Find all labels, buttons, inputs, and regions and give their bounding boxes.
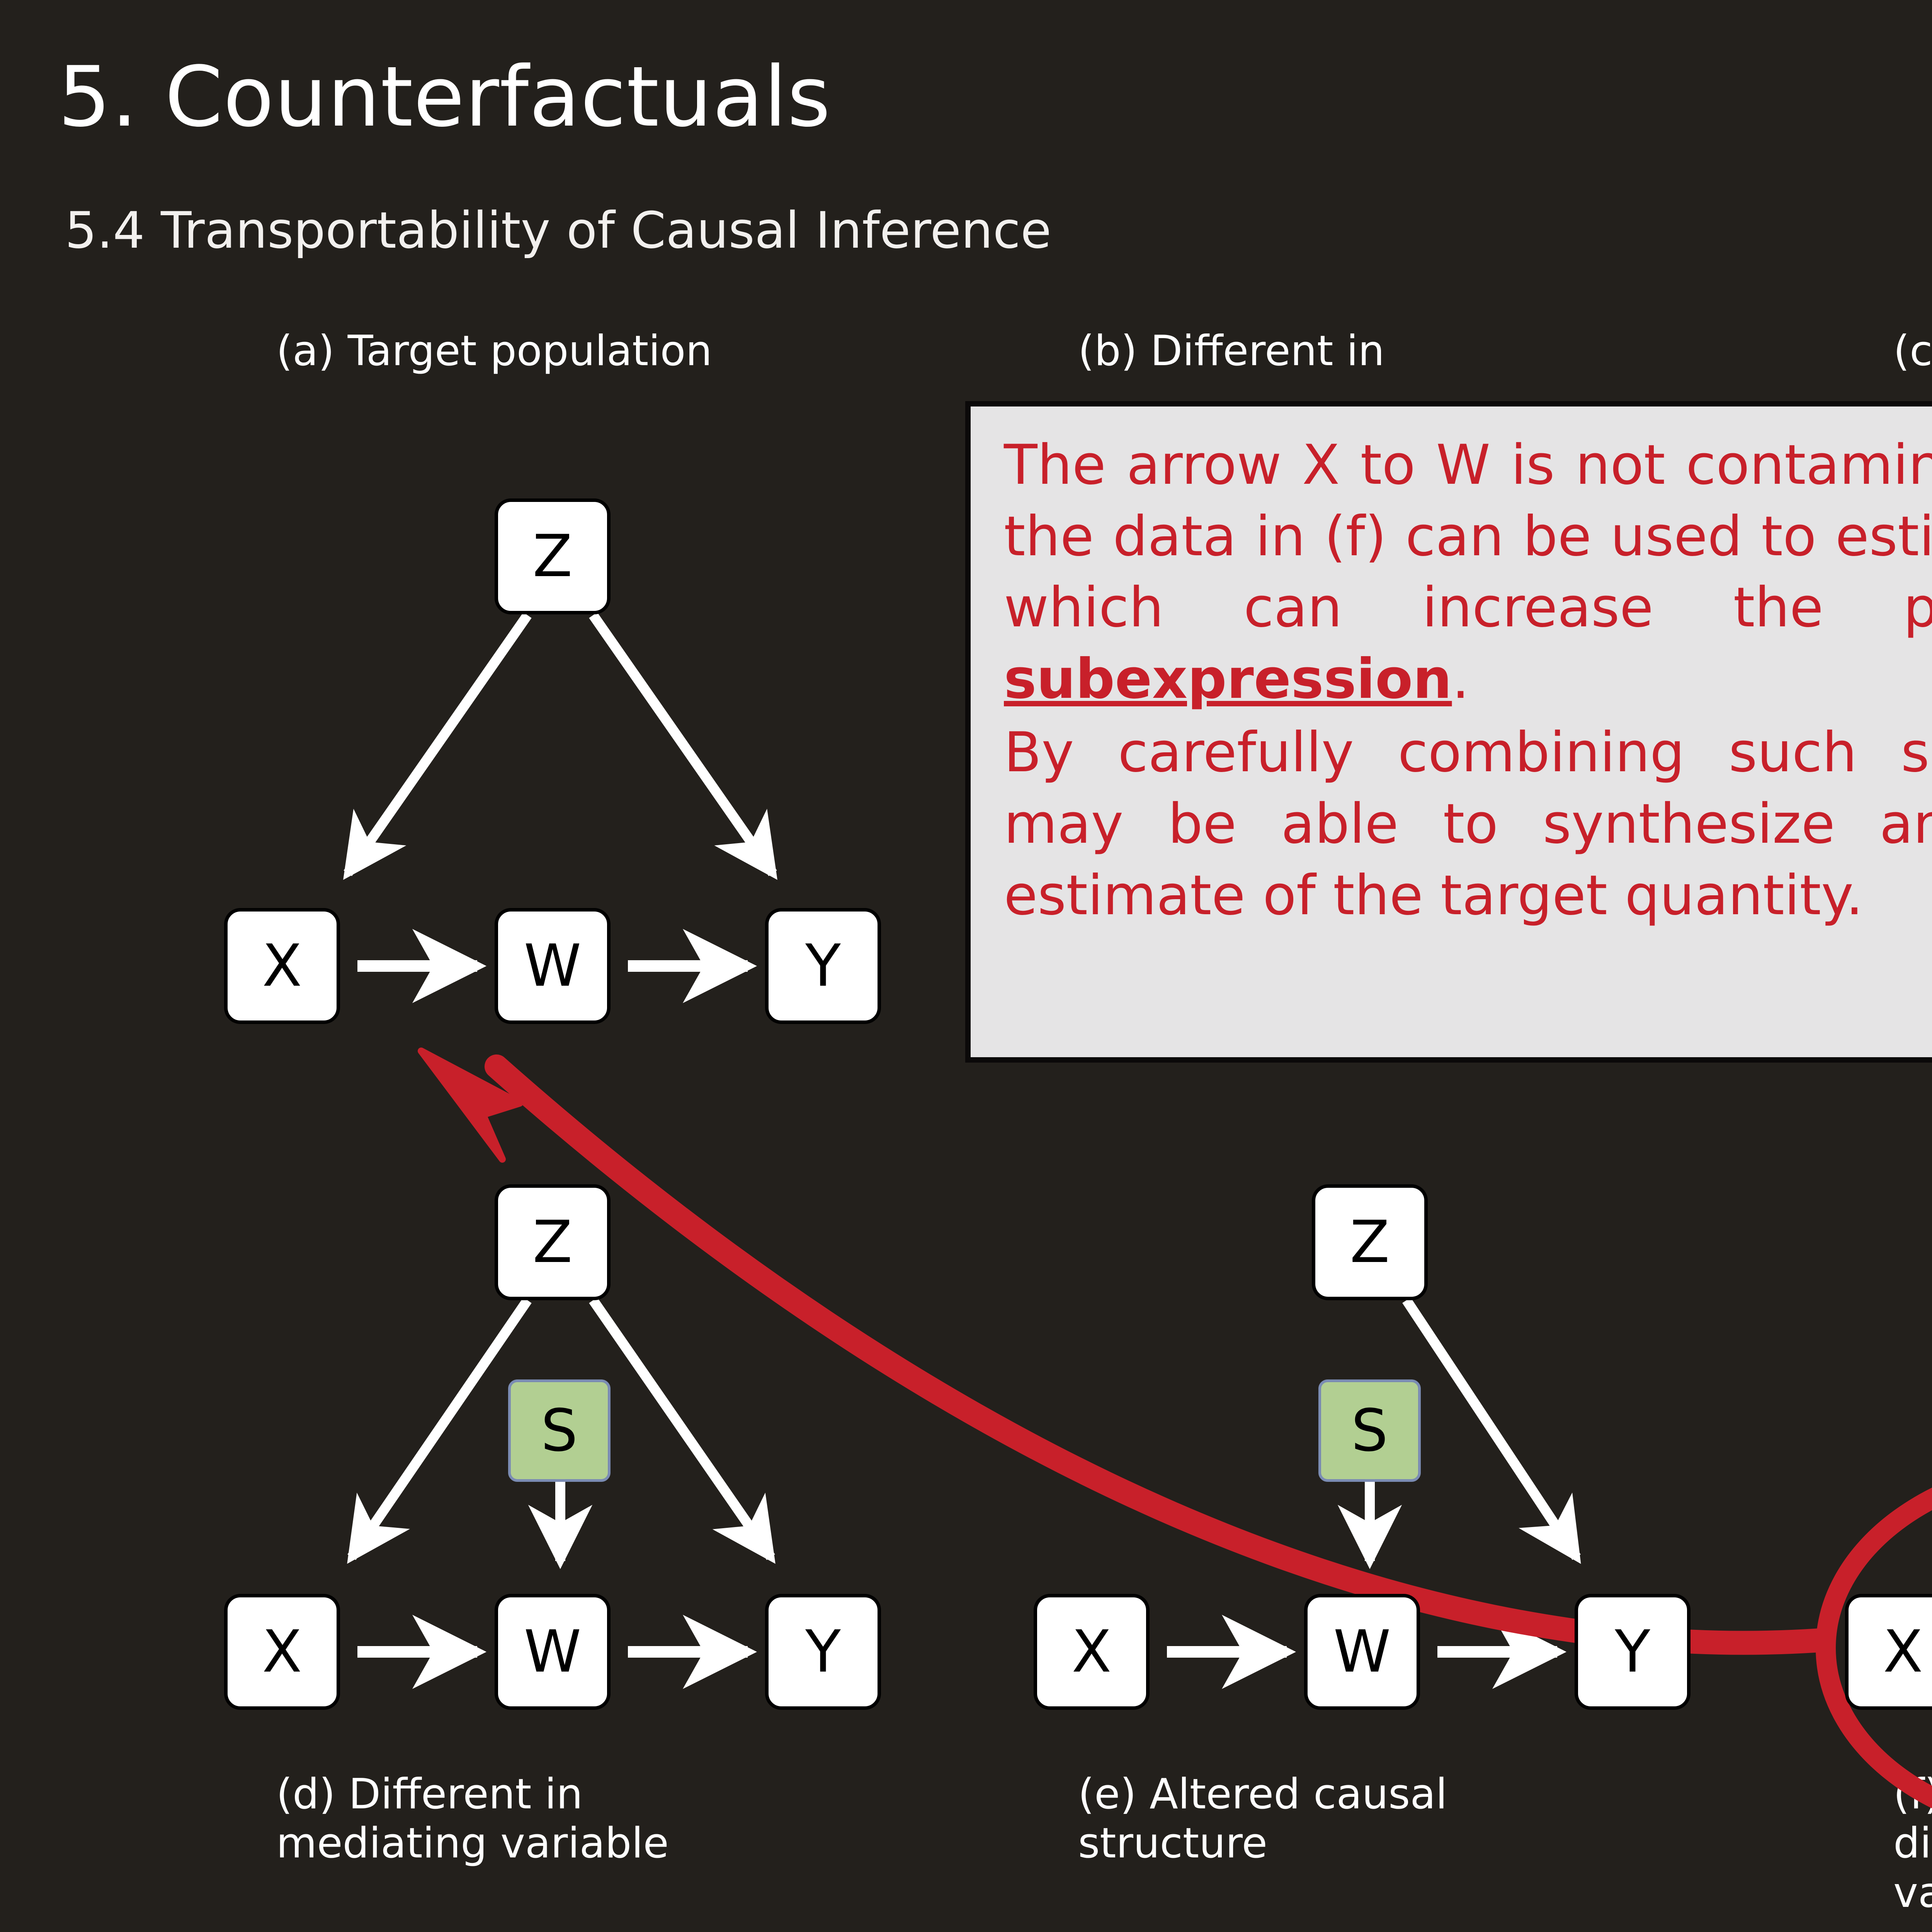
panel-label-e: (e) Altered causal structure: [1078, 1770, 1447, 1868]
node-label: Z: [533, 1213, 573, 1271]
graph-d-node-y[interactable]: Y: [765, 1594, 881, 1710]
panel-label-d: (d) Different in mediating variable: [276, 1770, 669, 1868]
node-label: W: [524, 937, 581, 995]
graph-e-node-w[interactable]: W: [1304, 1594, 1420, 1710]
graph-a-node-z[interactable]: Z: [495, 498, 611, 614]
graph-d-node-x[interactable]: X: [224, 1594, 340, 1710]
node-label: Z: [1350, 1213, 1390, 1271]
graph-e-node-z[interactable]: Z: [1312, 1184, 1428, 1300]
node-label: Z: [533, 527, 573, 585]
node-label: Y: [1615, 1623, 1650, 1681]
graph-d-node-z[interactable]: Z: [495, 1184, 611, 1300]
graph-d-node-w[interactable]: W: [495, 1594, 611, 1710]
callout-box: The arrow X to W is not contaminated by …: [965, 401, 1932, 1063]
callout-emphasis: subexpression: [1004, 647, 1452, 711]
node-label: Y: [805, 937, 841, 995]
page-title: 5. Counterfactuals: [58, 48, 831, 145]
callout-text-1b: .: [1452, 647, 1469, 711]
node-label: S: [1351, 1402, 1388, 1460]
graph-d-node-s[interactable]: S: [508, 1379, 611, 1482]
graph-e-node-x[interactable]: X: [1034, 1594, 1150, 1710]
node-label: X: [1072, 1623, 1112, 1681]
callout-paragraph-1: The arrow X to W is not contaminated by …: [1004, 430, 1932, 715]
node-label: W: [524, 1623, 581, 1681]
graph-a-node-x[interactable]: X: [224, 908, 340, 1024]
transport-arrow-f-to-a: [421, 1051, 1820, 1643]
graph-a-node-w[interactable]: W: [495, 908, 611, 1024]
panel-label-a: (a) Target population: [276, 327, 712, 376]
node-label: W: [1333, 1623, 1391, 1681]
graph-a-node-y[interactable]: Y: [765, 908, 881, 1024]
slide-root: 5. Counterfactuals 5.4 Transportability …: [0, 0, 1932, 1932]
node-label: X: [1883, 1623, 1923, 1681]
panel-label-b: (b) Different in: [1078, 327, 1384, 376]
panel-label-c: (c) Different in: [1893, 327, 1932, 376]
graph-e-node-s[interactable]: S: [1318, 1379, 1421, 1482]
graph-e-node-y[interactable]: Y: [1575, 1594, 1690, 1710]
node-label: Y: [805, 1623, 841, 1681]
callout-paragraph-2: By carefully combining such subexpressio…: [1004, 717, 1932, 931]
node-label: X: [262, 937, 302, 995]
panel-label-f: (f) Altered structure, different in outc…: [1893, 1770, 1932, 1917]
node-label: X: [262, 1623, 302, 1681]
node-label: S: [541, 1402, 578, 1460]
page-subtitle: 5.4 Transportability of Causal Inference: [65, 201, 1051, 260]
callout-text-1a: The arrow X to W is not contaminated by …: [1004, 433, 1932, 639]
graph-f-node-x[interactable]: X: [1845, 1594, 1932, 1710]
